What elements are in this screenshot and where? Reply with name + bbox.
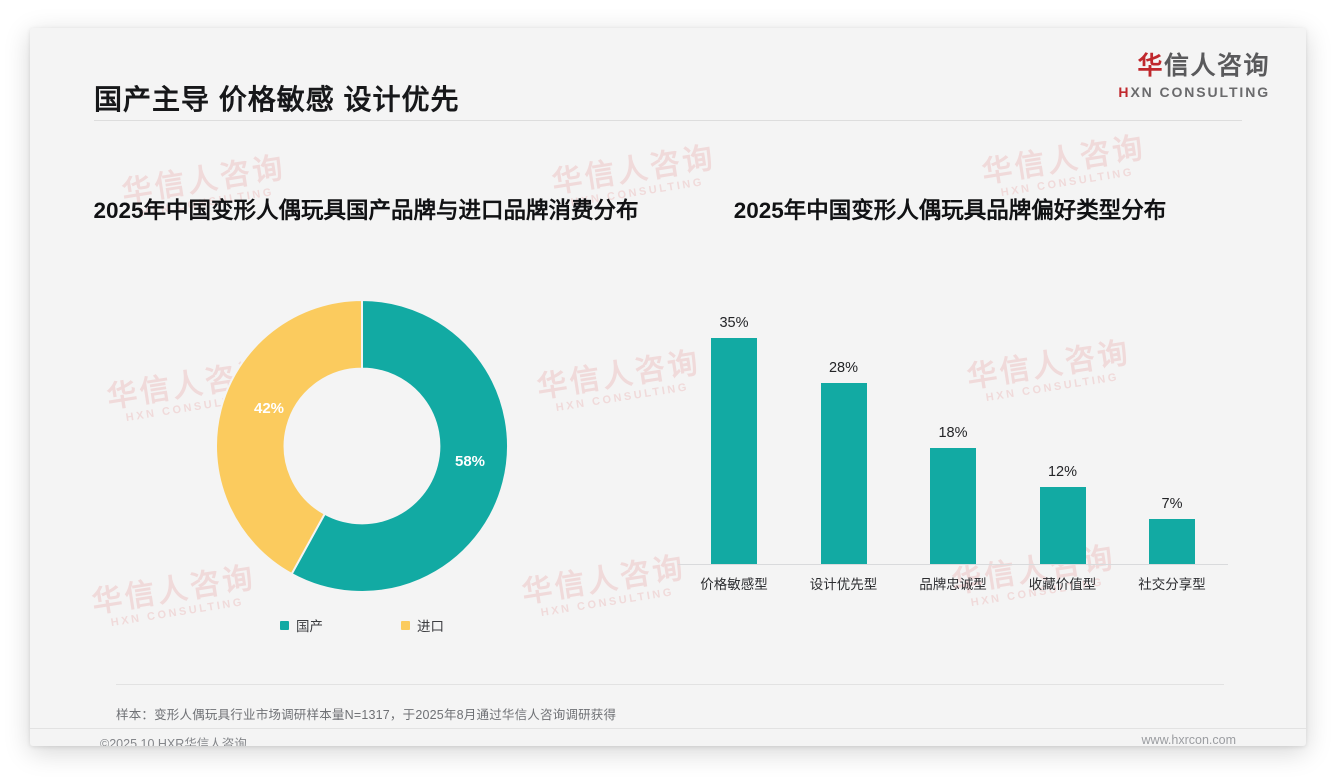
bar-column: 28% — [794, 276, 894, 564]
bar-category-labels: 价格敏感型 设计优先型 品牌忠诚型 收藏价值型 社交分享型 — [678, 573, 1228, 593]
donut-value-label: 42% — [254, 400, 284, 417]
logo-english: HXN CONSULTING — [1118, 85, 1270, 99]
bar-rect[interactable] — [711, 338, 757, 564]
bar-category-label: 社交分享型 — [1122, 573, 1222, 593]
header-divider — [94, 120, 1242, 121]
legend-swatch-icon — [280, 621, 289, 630]
legend-swatch-icon — [401, 621, 410, 630]
donut-value-label: 58% — [455, 453, 485, 470]
bar-chart: 35% 28% 18% 12% — [678, 276, 1228, 606]
logo-english-accent: H — [1118, 84, 1130, 100]
legend-label: 国产 — [296, 615, 323, 635]
brand-logo: 华信人咨询 HXN CONSULTING — [1118, 54, 1270, 99]
bar-value-label: 7% — [1162, 496, 1183, 512]
bar-value-label: 28% — [829, 360, 858, 376]
bar-category-label: 品牌忠诚型 — [903, 573, 1003, 593]
logo-chinese: 华信人咨询 — [1118, 54, 1270, 79]
slide-footer: ©2025.10 HXR华信人咨询 www.hxrcon.com — [30, 728, 1306, 746]
legend-item-jinkou[interactable]: 进口 — [401, 615, 444, 635]
bar-category-label: 设计优先型 — [794, 573, 894, 593]
footnote-divider — [116, 684, 1224, 685]
bar-rect[interactable] — [1149, 519, 1195, 564]
bar-category-label: 价格敏感型 — [684, 573, 784, 593]
slide-card: 华信人咨询 HXN CONSULTING 华信人咨询 HXN CONSULTIN… — [30, 28, 1306, 746]
logo-english-rest: XN CONSULTING — [1130, 84, 1270, 100]
bar-column: 18% — [903, 276, 1003, 564]
bar-rect[interactable] — [930, 448, 976, 564]
donut-legend: 国产 进口 — [202, 615, 522, 635]
donut-chart-panel: 2025年中国变形人偶玩具国产品牌与进口品牌消费分布 58% 42% 国产 — [30, 128, 670, 658]
copyright-text: ©2025.10 HXR华信人咨询 — [100, 733, 247, 746]
bar-axis-line — [678, 564, 1228, 565]
bar-rect[interactable] — [1040, 487, 1086, 564]
legend-item-guochan[interactable]: 国产 — [280, 615, 323, 635]
bar-category-label: 收藏价值型 — [1013, 573, 1113, 593]
bar-rect[interactable] — [821, 383, 867, 564]
logo-chinese-accent: 华 — [1137, 52, 1164, 80]
bar-chart-panel: 2025年中国变形人偶玩具品牌偏好类型分布 35% 28% 18% — [670, 128, 1306, 658]
bar-value-label: 12% — [1048, 464, 1077, 480]
page-title: 国产主导 价格敏感 设计优先 — [94, 78, 460, 118]
charts-area: 2025年中国变形人偶玩具国产品牌与进口品牌消费分布 58% 42% 国产 — [30, 128, 1306, 658]
bar-plot-area: 35% 28% 18% 12% — [678, 276, 1228, 564]
donut-svg — [202, 298, 522, 594]
website-link[interactable]: www.hxrcon.com — [1142, 733, 1236, 746]
bar-column: 12% — [1013, 276, 1113, 564]
bar-value-label: 35% — [719, 315, 748, 331]
bar-value-label: 18% — [938, 425, 967, 441]
legend-label: 进口 — [417, 615, 444, 635]
bar-column: 7% — [1122, 276, 1222, 564]
sample-footnote: 样本：变形人偶玩具行业市场调研样本量N=1317，于2025年8月通过华信人咨询… — [116, 704, 616, 723]
bar-column: 35% — [684, 276, 784, 564]
donut-chart-title: 2025年中国变形人偶玩具国产品牌与进口品牌消费分布 — [42, 196, 690, 226]
slide-header: 国产主导 价格敏感 设计优先 华信人咨询 HXN CONSULTING — [30, 28, 1306, 120]
logo-chinese-rest: 信人咨询 — [1164, 52, 1270, 80]
donut-chart: 58% 42% — [202, 298, 522, 594]
bar-chart-title: 2025年中国变形人偶玩具品牌偏好类型分布 — [672, 196, 1228, 226]
